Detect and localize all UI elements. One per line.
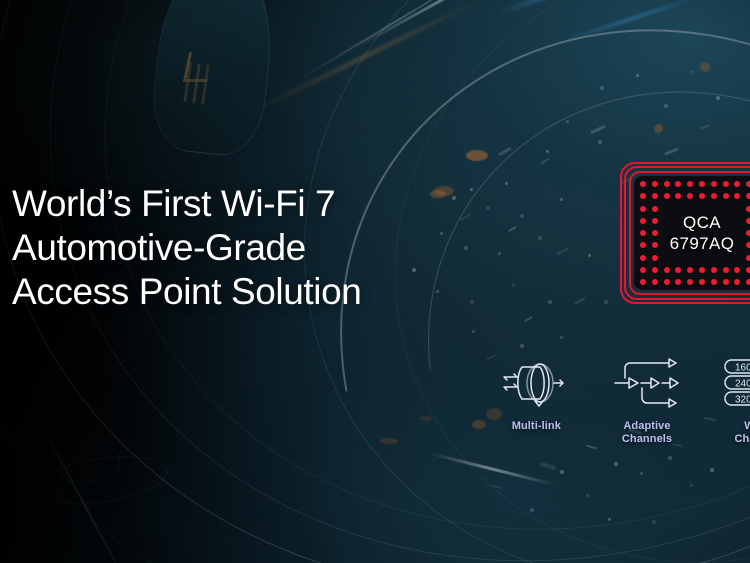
feature-multi-link[interactable]: Multi-link	[498, 352, 575, 433]
background-dash	[590, 125, 606, 134]
amber-speck	[700, 62, 710, 72]
light-streak-3	[39, 421, 130, 563]
badge-160: 160	[735, 363, 750, 374]
background-particle	[614, 462, 618, 466]
background-particle	[710, 468, 714, 472]
background-particle	[560, 336, 563, 339]
light-streak-1	[355, 0, 619, 49]
background-particle	[470, 188, 473, 191]
background-particle	[464, 246, 468, 250]
background-particle	[470, 300, 474, 304]
background-dash	[574, 297, 585, 305]
background-particle	[548, 300, 552, 304]
background-particle	[505, 182, 508, 185]
background-particle	[538, 236, 542, 240]
background-particle	[598, 140, 602, 144]
background-dash	[486, 354, 497, 361]
amber-speck	[472, 420, 486, 429]
background-dash	[540, 462, 556, 470]
background-particle	[690, 70, 693, 73]
background-particle	[608, 518, 611, 521]
background-particle	[560, 198, 563, 201]
background-particle	[472, 330, 475, 333]
feature-label-wider-channels: WiderChannels	[735, 420, 750, 446]
background-dash	[460, 213, 471, 221]
multi-link-icon	[499, 352, 573, 414]
background-dash	[540, 158, 550, 165]
chip-graphic: QCA 6797AQ	[620, 162, 750, 304]
adaptive-label-line2: Channels	[622, 433, 672, 445]
leaf-mark-1	[183, 52, 213, 82]
background-dash	[492, 485, 502, 490]
wider-label-line2: Channels	[735, 433, 750, 445]
feature-adaptive-channels[interactable]: AdaptiveChannels	[609, 352, 686, 446]
teal-leaf-shape	[148, 0, 280, 159]
headline-line-2: Automotive-Grade	[12, 226, 361, 270]
background-particle	[498, 252, 501, 255]
amber-speck	[434, 186, 454, 196]
amber-streak	[249, 0, 485, 115]
background-particle	[520, 214, 524, 218]
feature-label-adaptive-channels: AdaptiveChannels	[622, 420, 672, 446]
adaptive-channels-icon	[611, 352, 683, 414]
background-particle	[586, 494, 589, 497]
background-particle	[716, 96, 720, 100]
background-particle	[436, 290, 439, 293]
background-particle	[520, 344, 524, 348]
background-particle	[530, 508, 534, 512]
background-particle	[636, 74, 639, 77]
badge-320: 320	[735, 395, 750, 406]
background-particle	[440, 232, 443, 235]
wider-label-line1: Wider	[744, 420, 750, 432]
background-particle	[652, 520, 656, 524]
chip-body: QCA 6797AQ	[634, 176, 750, 290]
leaf-mark-2	[183, 62, 218, 106]
background-particle	[512, 284, 515, 287]
background-dash	[498, 147, 512, 156]
amber-speck	[430, 190, 446, 198]
background-particle	[560, 470, 564, 474]
background-particle	[640, 472, 643, 475]
chip-label: QCA 6797AQ	[634, 176, 750, 290]
promo-banner: World’s First Wi-Fi 7Automotive-GradeAcc…	[0, 0, 750, 563]
background-dash	[524, 316, 533, 322]
badge-240: 240	[735, 379, 750, 390]
background-dash	[556, 247, 569, 256]
feature-list: Multi-link AdaptiveChannels	[498, 352, 750, 452]
blue-streak-2	[559, 0, 703, 44]
background-particle	[600, 86, 604, 90]
chip-brand: QCA	[683, 212, 721, 233]
background-dash	[700, 124, 710, 129]
background-particle	[664, 104, 668, 108]
amber-speck	[654, 124, 663, 133]
background-particle	[546, 150, 549, 153]
background-particle	[452, 196, 456, 200]
light-streak-2	[299, 0, 489, 80]
amber-speck	[466, 150, 488, 161]
feature-label-multi-link: Multi-link	[512, 420, 561, 433]
amber-speck	[380, 438, 398, 444]
background-dash	[664, 147, 679, 155]
wider-channels-icon: 160 240 320	[723, 352, 750, 414]
background-particle	[486, 206, 490, 210]
background-particle	[588, 254, 591, 257]
blue-streak-1	[499, 0, 670, 16]
headline-line-1: World’s First Wi-Fi 7	[12, 182, 361, 226]
background-particle	[412, 268, 416, 272]
page-title: World’s First Wi-Fi 7Automotive-GradeAcc…	[12, 182, 361, 314]
faint-emblem-inner	[57, 439, 123, 487]
background-particle	[604, 300, 608, 304]
feature-wider-channels[interactable]: 160 240 320 WiderChannels	[721, 352, 750, 446]
adaptive-label-line1: Adaptive	[623, 420, 670, 432]
amber-speck	[420, 416, 432, 421]
background-particle	[690, 484, 693, 487]
background-dash	[508, 226, 517, 232]
faint-emblem-outer	[36, 449, 171, 511]
headline-line-3: Access Point Solution	[12, 270, 361, 314]
light-streak-4	[430, 452, 557, 486]
chip-part-number: 6797AQ	[670, 233, 735, 254]
background-particle	[566, 120, 569, 123]
background-particle	[668, 456, 672, 460]
